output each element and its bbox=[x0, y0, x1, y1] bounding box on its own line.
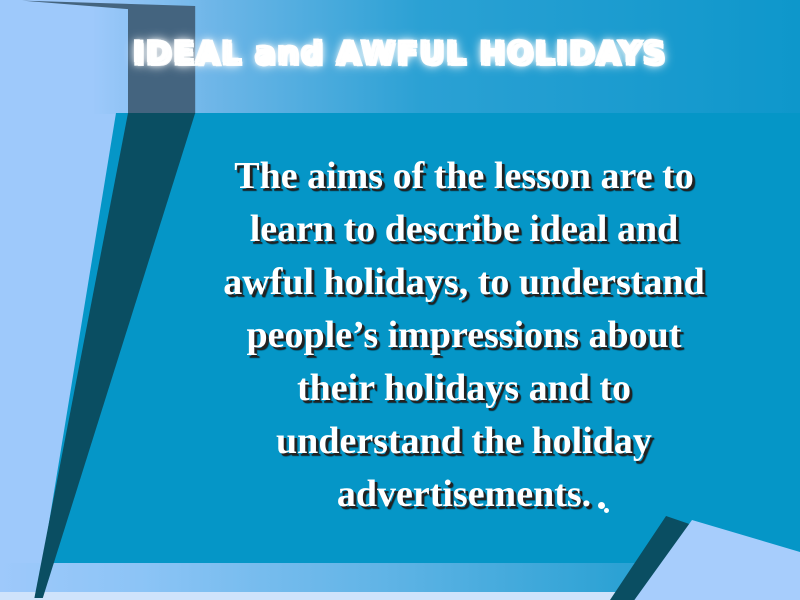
body-line: learn to describe ideal and bbox=[128, 203, 800, 256]
presentation-slide: IDEAL and AWFUL HOLIDAYS The aims of the… bbox=[0, 0, 800, 600]
slide-title-text: IDEAL and AWFUL HOLIDAYS bbox=[133, 36, 667, 72]
body-line: people’s impressions about bbox=[128, 309, 800, 362]
slide-body-text: The aims of the lesson are to learn to d… bbox=[128, 150, 800, 521]
body-line: advertisements. bbox=[128, 468, 800, 521]
body-line: understand the holiday bbox=[128, 415, 800, 468]
body-line: awful holidays, to understand bbox=[128, 256, 800, 309]
body-line: their holidays and to bbox=[128, 362, 800, 415]
body-line: The aims of the lesson are to bbox=[128, 150, 800, 203]
slide-title: IDEAL and AWFUL HOLIDAYS bbox=[0, 36, 800, 72]
